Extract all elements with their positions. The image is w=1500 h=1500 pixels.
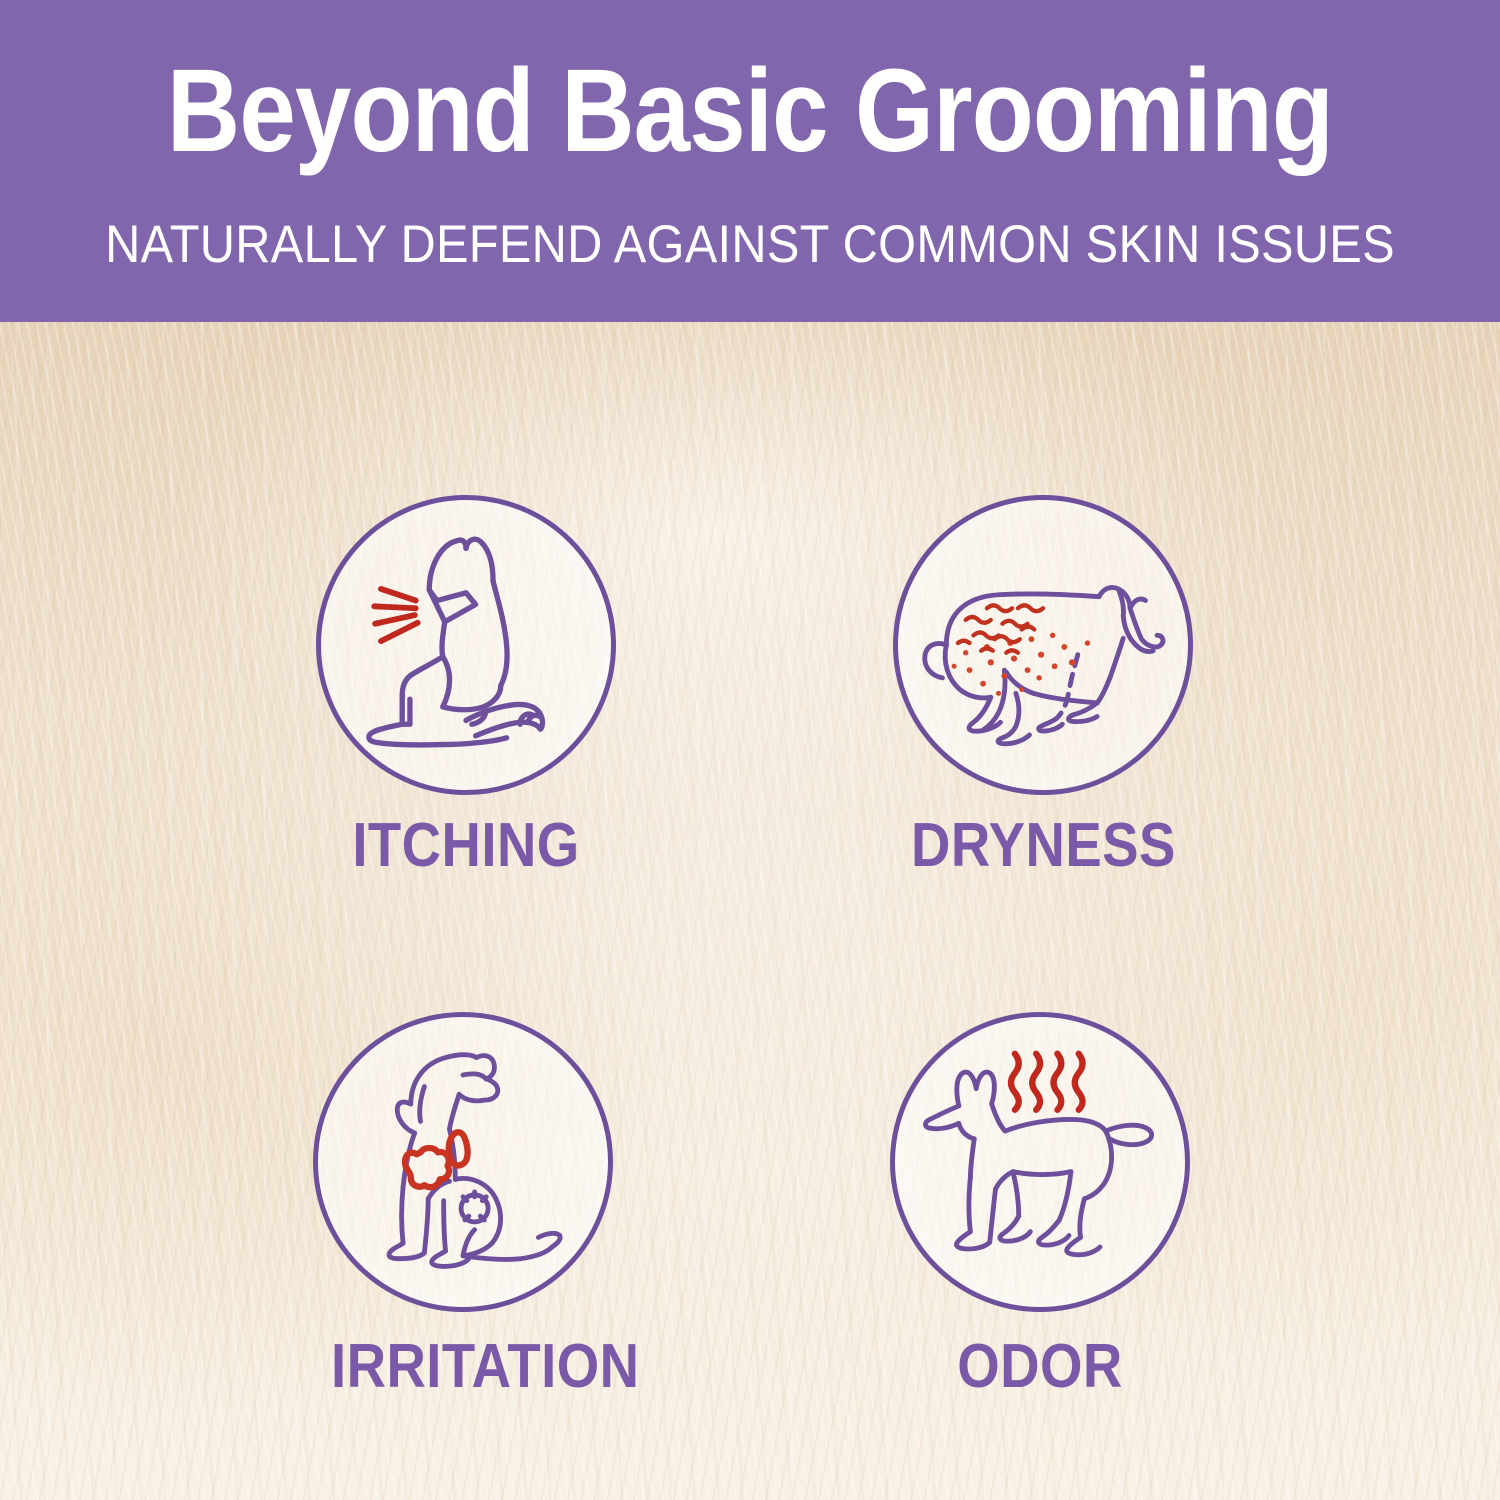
dog-with-flaky-skin-icon [893,495,1193,795]
issue-icon-grid: ITCHING [0,322,1500,1500]
issue-item-irritation: IRRITATION [313,1012,613,1398]
issue-label-dryness: DRYNESS [911,815,1175,877]
issue-label-odor: ODOR [908,1336,1172,1398]
issue-item-odor: ODOR [890,1012,1190,1398]
issue-item-dryness: DRYNESS [893,495,1193,877]
header-banner: Beyond Basic Grooming NATURALLY DEFEND A… [0,0,1500,322]
issue-label-itching: ITCHING [334,815,598,877]
page-subtitle: NATURALLY DEFEND AGAINST COMMON SKIN ISS… [105,218,1395,271]
issue-item-itching: ITCHING [316,495,616,877]
page-title: Beyond Basic Grooming [167,52,1333,170]
dog-scratching-ear-icon [316,495,616,795]
issue-label-irritation: IRRITATION [331,1336,595,1398]
skin-issues-infographic: Beyond Basic Grooming NATURALLY DEFEND A… [0,0,1500,1500]
dog-with-red-patches-icon [313,1012,613,1312]
dog-with-stink-lines-icon [890,1012,1190,1312]
